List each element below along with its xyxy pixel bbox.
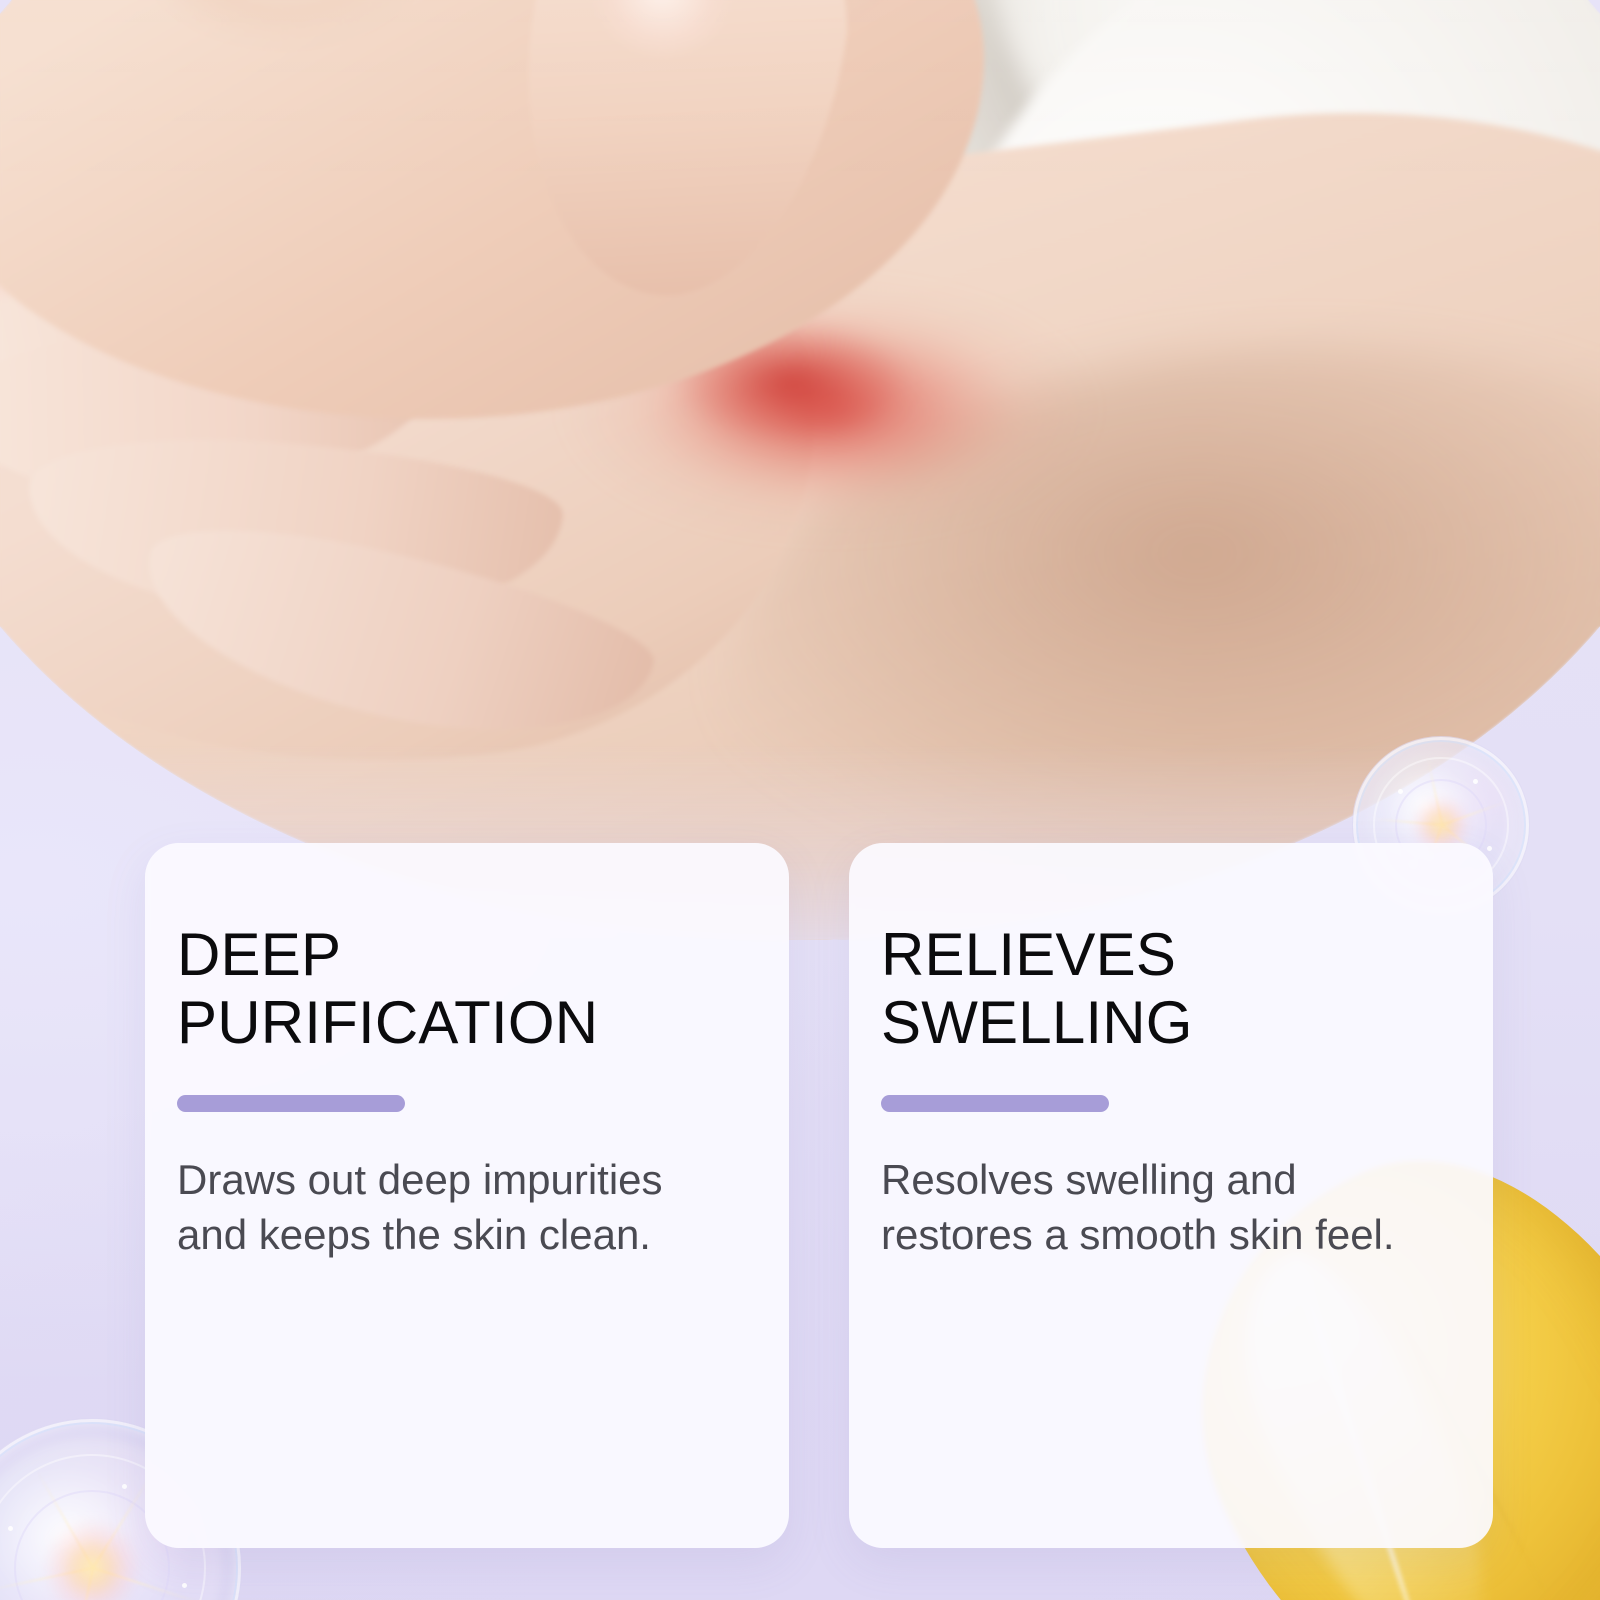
- bubble-speck: [122, 1484, 127, 1489]
- bubble-speck: [8, 1526, 13, 1531]
- feature-card-accent-bar: [881, 1095, 1109, 1112]
- feature-card-title: DEEP PURIFICATION: [177, 921, 733, 1057]
- feature-card-deep-purification: DEEP PURIFICATION Draws out deep impurit…: [145, 843, 789, 1548]
- bubble-ray: [68, 1568, 94, 1600]
- feature-card-list: DEEP PURIFICATION Draws out deep impurit…: [145, 843, 1493, 1548]
- feature-card-title: RELIEVES SWELLING: [881, 921, 1437, 1057]
- bubble-speck: [1473, 779, 1478, 784]
- promo-graphic-canvas: DEEP PURIFICATION Draws out deep impurit…: [0, 0, 1600, 1600]
- bubble-speck: [182, 1583, 187, 1588]
- feature-card-body: Draws out deep impurities and keeps the …: [177, 1152, 717, 1263]
- feature-card-body: Resolves swelling and restores a smooth …: [881, 1152, 1421, 1263]
- feature-card-relieves-swelling: RELIEVES SWELLING Resolves swelling and …: [849, 843, 1493, 1548]
- feature-card-accent-bar: [177, 1095, 405, 1112]
